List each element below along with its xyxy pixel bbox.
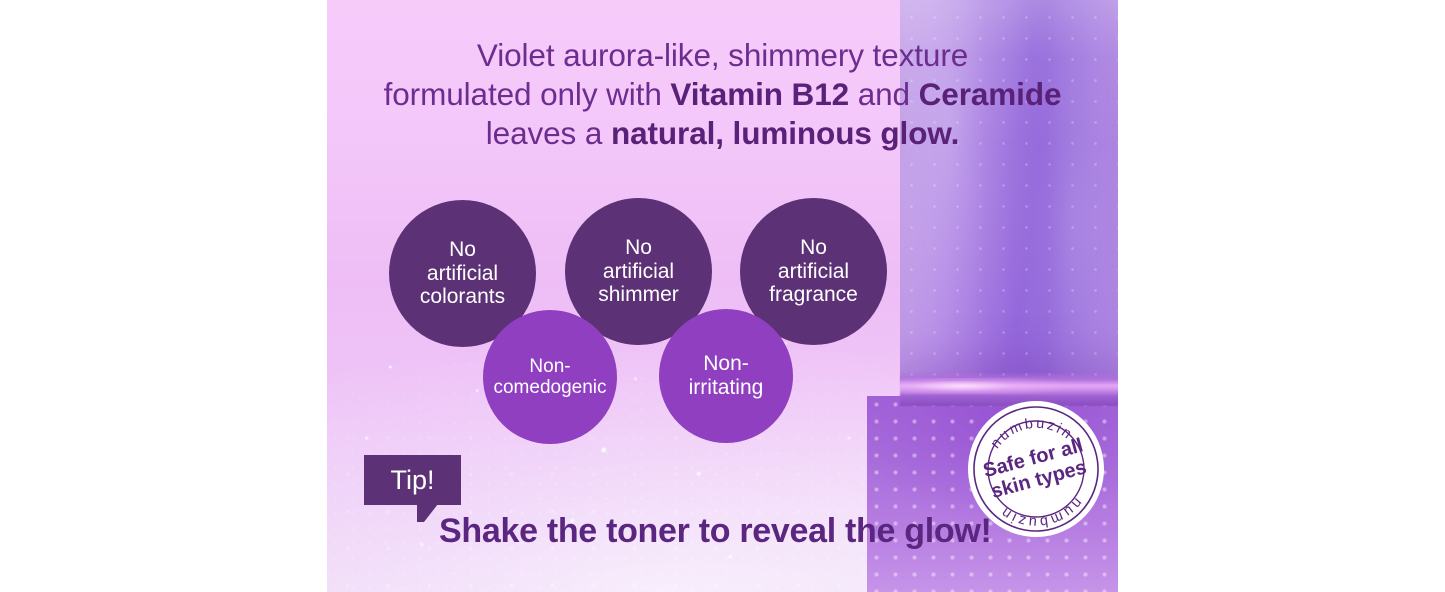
badge-comedogenic-line-1: Non- [529, 356, 570, 377]
badge-comedogenic-line-2: comedogenic [493, 377, 606, 398]
badge-colorants-line-1: No [449, 238, 476, 261]
numbuzin-safe-seal: numbuzin numbuzin Safe for all skin type… [959, 392, 1113, 546]
headline-line-3: leaves a natural, luminous glow. [327, 114, 1118, 153]
badge-comedogenic-text: Non- comedogenic [487, 356, 612, 399]
badge-fragrance-text: No artificial fragrance [763, 236, 864, 307]
headline-line-1: Violet aurora-like, shimmery texture [327, 36, 1118, 75]
badge-colorants-text: No artificial colorants [414, 238, 511, 309]
screenshot-canvas: Violet aurora-like, shimmery texture for… [0, 0, 1445, 592]
tip-label: Tip! [390, 465, 434, 496]
bottle-rim-glow [887, 378, 1118, 394]
badge-irritating-line-1: Non- [703, 352, 749, 375]
headline-ingredient-vitamin-b12: Vitamin B12 [670, 76, 849, 112]
headline-line-2: formulated only with Vitamin B12 and Cer… [327, 75, 1118, 114]
badge-fragrance-line-2: artificial [778, 260, 849, 283]
headline-benefit-glow: natural, luminous glow. [611, 115, 959, 151]
badge-fragrance-line-1: No [800, 236, 827, 259]
tip-callout-bubble: Tip! [364, 455, 461, 505]
badge-non-comedogenic: Non- comedogenic [483, 310, 617, 444]
badge-colorants-line-3: colorants [420, 285, 505, 308]
badge-fragrance-line-3: fragrance [769, 283, 858, 306]
headline-line-2-conjunction: and [849, 76, 919, 112]
badge-irritating-text: Non- irritating [683, 352, 770, 399]
tip-bubble-tail [417, 504, 438, 522]
badge-irritating-line-2: irritating [689, 376, 764, 399]
badge-shimmer-line-3: shimmer [598, 283, 679, 306]
badge-shimmer-line-2: artificial [603, 260, 674, 283]
badge-non-irritating: Non- irritating [659, 309, 793, 443]
product-feature-panel: Violet aurora-like, shimmery texture for… [327, 0, 1118, 592]
headline-ingredient-ceramide: Ceramide [919, 76, 1062, 112]
tagline: Shake the toner to reveal the glow! [439, 512, 992, 551]
headline-line-2-prefix: formulated only with [384, 76, 671, 112]
badge-colorants-line-2: artificial [427, 262, 498, 285]
badge-shimmer-text: No artificial shimmer [592, 236, 685, 307]
badge-shimmer-line-1: No [625, 236, 652, 259]
headline: Violet aurora-like, shimmery texture for… [327, 36, 1118, 153]
headline-line-3-prefix: leaves a [486, 115, 611, 151]
